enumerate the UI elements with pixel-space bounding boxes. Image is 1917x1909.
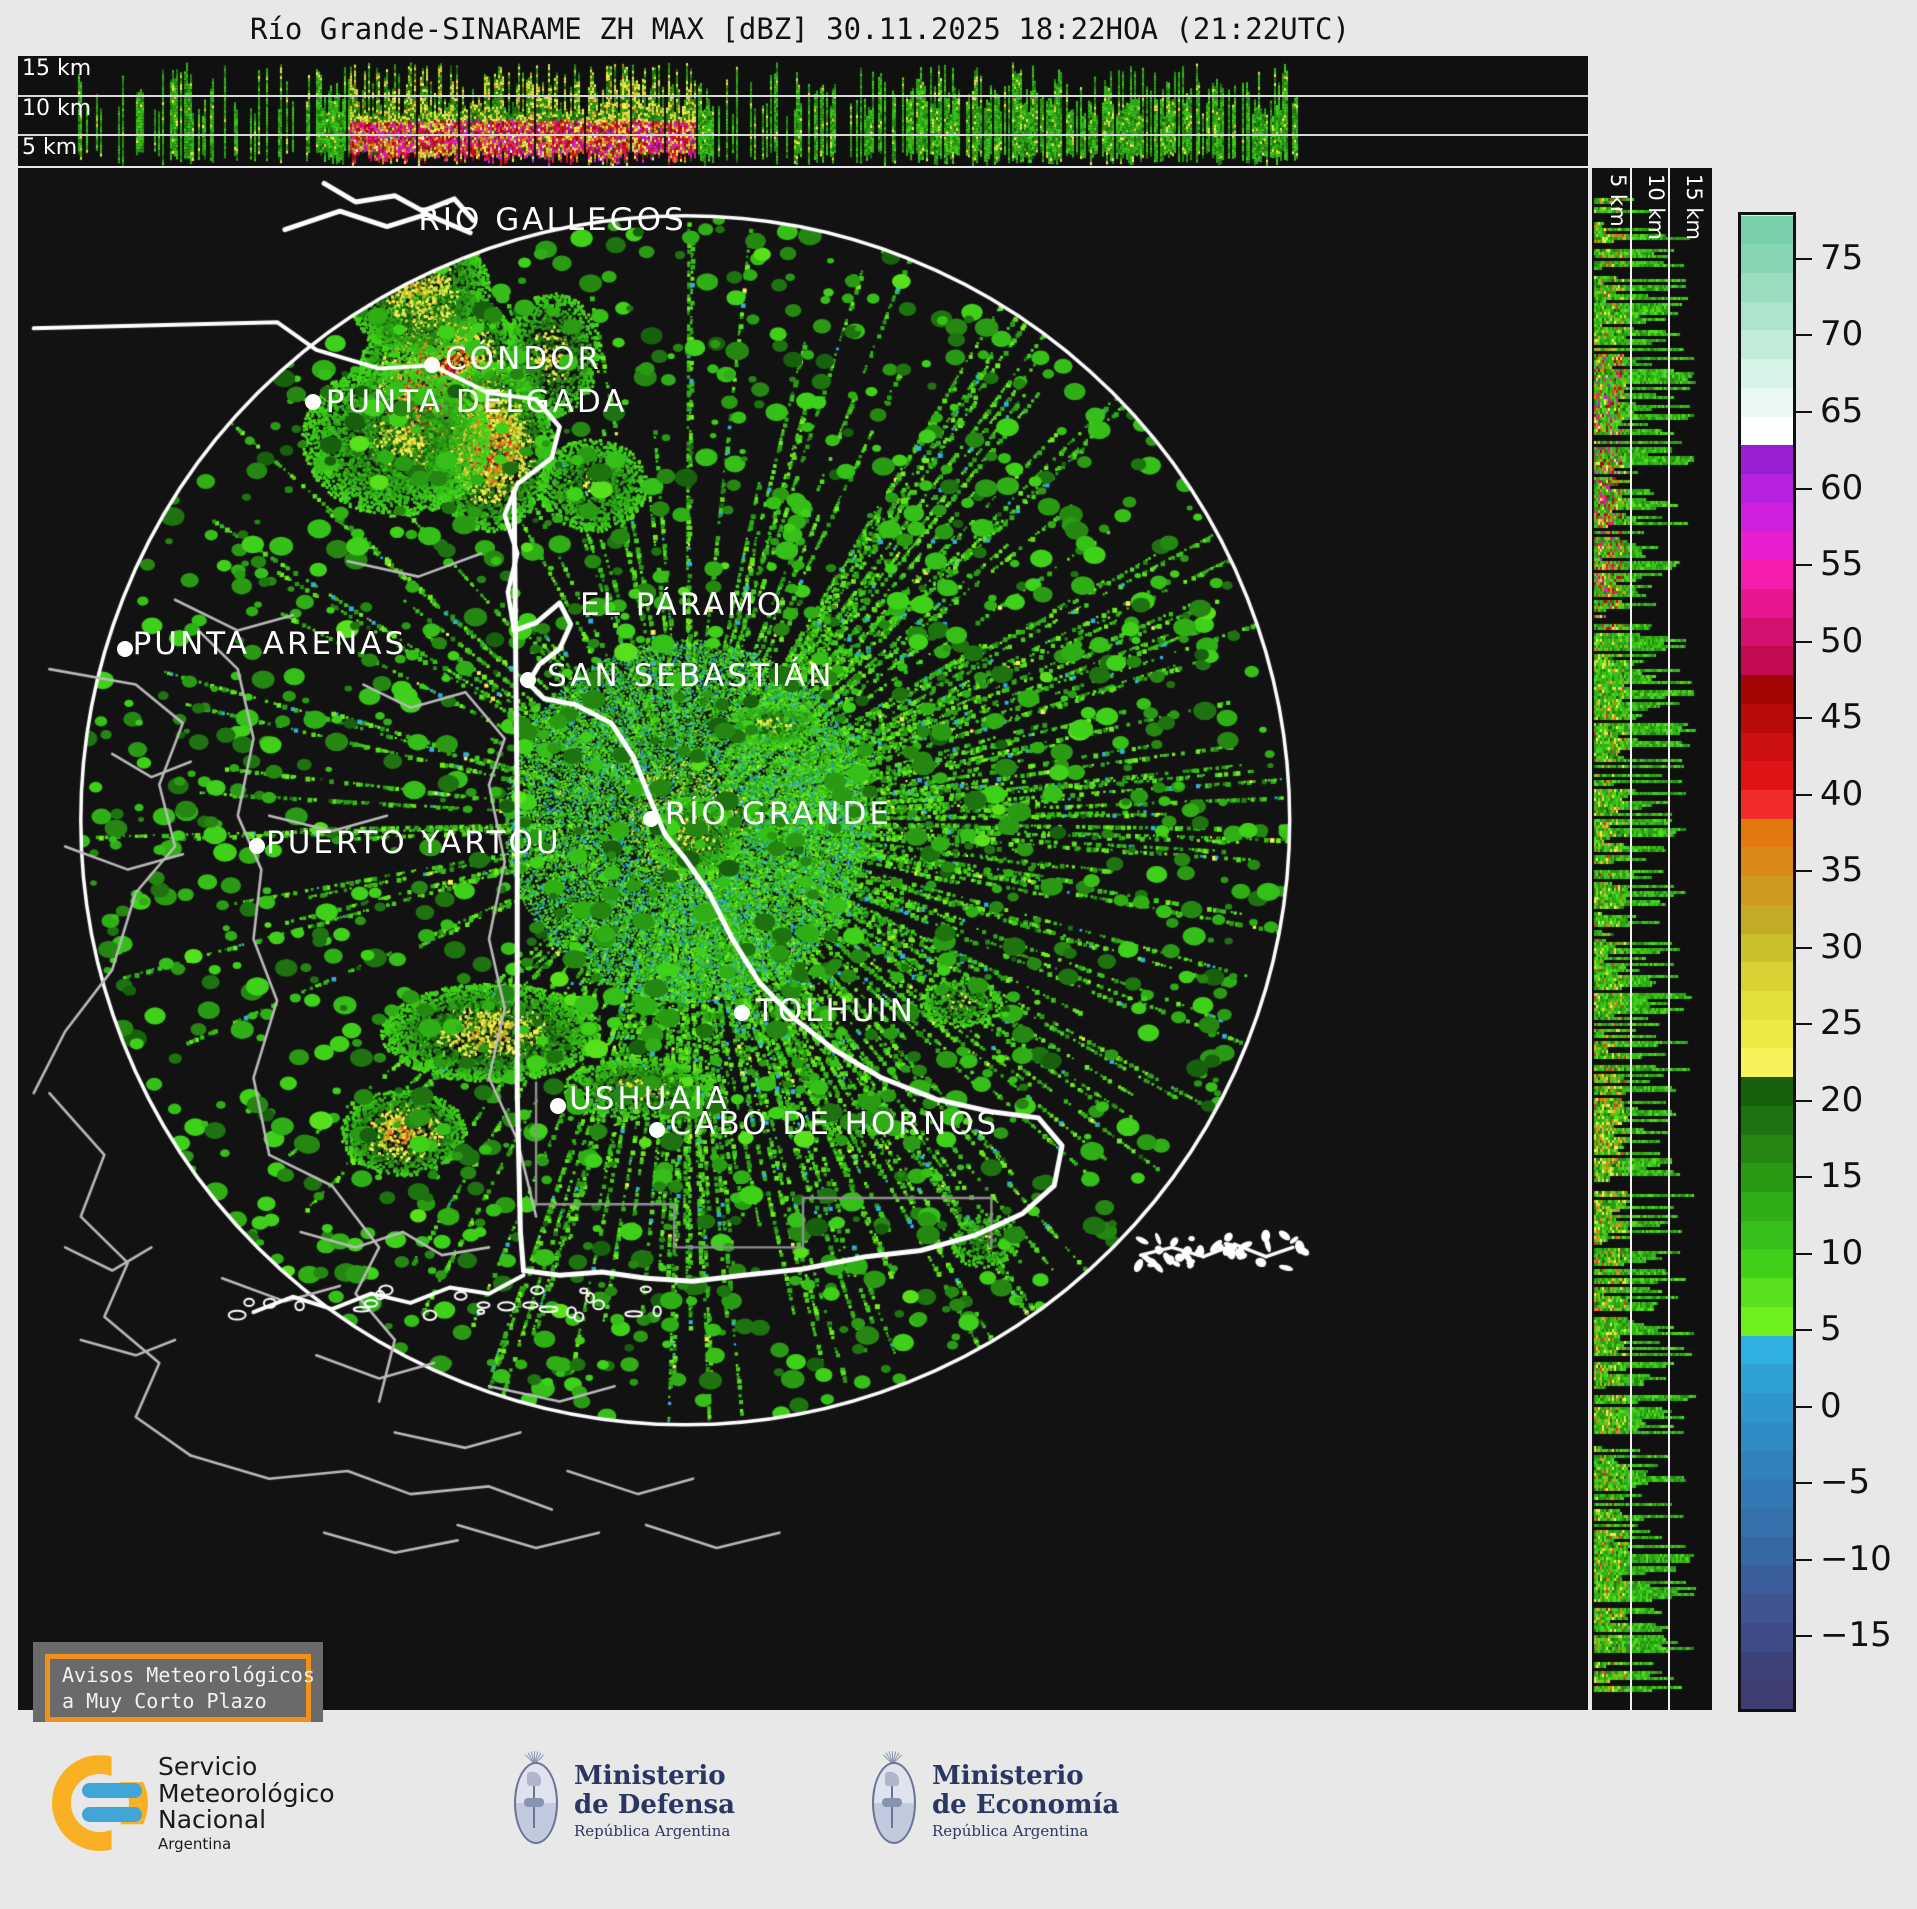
colorbar-band-9	[1741, 1422, 1793, 1451]
logo-ministerio-de-defensa: Ministerio de Defensa República Argentin…	[508, 1746, 735, 1856]
colorbar-tick	[1796, 1253, 1812, 1255]
colorbar-band-39	[1741, 560, 1793, 589]
colorbar-tick-label: 25	[1820, 1003, 1863, 1043]
warning-badge[interactable]: Avisos Meteorológicos a Muy Corto Plazo	[33, 1642, 323, 1734]
colorbar-tick	[1796, 1406, 1812, 1408]
logo-servicio-meteorologico-nacional: Servicio Meteorológico Nacional Argentin…	[52, 1754, 335, 1852]
colorbar-tick-label: 50	[1820, 621, 1863, 661]
colorbar-band-42	[1741, 474, 1793, 503]
colorbar-tick-label: 70	[1820, 314, 1863, 354]
coat-phrygian-cap-2	[885, 1772, 899, 1786]
gridline-10km	[18, 95, 1588, 97]
coat-clasped-hands-2	[882, 1798, 902, 1807]
colorbar-band-24	[1741, 991, 1793, 1020]
map-label-el-p-ramo: EL PÁRAMO	[580, 587, 784, 623]
colorbar-tick-label: 5	[1820, 1309, 1842, 1349]
logo-ministerio-de-economia: Ministerio de Economía República Argenti…	[866, 1746, 1119, 1856]
colorbar-band-11	[1741, 1364, 1793, 1393]
colorbar-band-0	[1741, 1680, 1793, 1709]
colorbar-tick	[1796, 1023, 1812, 1025]
colorbar-band-22	[1741, 1048, 1793, 1077]
smn-logo-text: Servicio Meteorológico Nacional Argentin…	[158, 1754, 335, 1852]
colorbar-band-44	[1741, 417, 1793, 446]
vgridline-5km	[1630, 168, 1632, 1710]
colorbar-band-46	[1741, 359, 1793, 388]
warning-line-2: a Muy Corto Plazo	[62, 1688, 306, 1714]
colorbar-tick-label: 10	[1820, 1233, 1863, 1273]
coat-phrygian-cap	[527, 1772, 541, 1786]
station-marker-ushuaia[interactable]	[550, 1098, 566, 1114]
station-marker-puerto-yartou[interactable]	[249, 838, 265, 854]
colorbar-band-5	[1741, 1537, 1793, 1566]
colorbar-tick	[1796, 641, 1812, 643]
colorbar-band-14	[1741, 1278, 1793, 1307]
colorbar-band-16	[1741, 1221, 1793, 1250]
colorbar-band-32	[1741, 761, 1793, 790]
map-label-tolhuin: TOLHUIN	[756, 993, 916, 1029]
colorbar-tick	[1796, 717, 1812, 719]
colorbar-tick	[1796, 1635, 1812, 1637]
smn-wave-top	[82, 1783, 142, 1798]
colorbar-band-34	[1741, 704, 1793, 733]
colorbar-band-3	[1741, 1594, 1793, 1623]
smn-ring-shape	[52, 1755, 148, 1851]
right-cross-section-panel: 5 km 10 km 15 km	[1592, 168, 1712, 1710]
colorbar-band-6	[1741, 1508, 1793, 1537]
colorbar-tick	[1796, 1482, 1812, 1484]
map-label-r-o-grande: RÍO GRANDE	[665, 796, 892, 832]
economia-line-3: República Argentina	[932, 1823, 1119, 1840]
map-label-cabo-de-hornos: CABO DE HORNOS	[670, 1106, 1000, 1142]
coat-clasped-hands	[524, 1798, 544, 1807]
colorbar-tick-label: 30	[1820, 927, 1863, 967]
colorbar-tick-label: −5	[1820, 1462, 1870, 1502]
colorbar-band-25	[1741, 962, 1793, 991]
colorbar-band-27	[1741, 905, 1793, 934]
map-label-puerto-yartou: PUERTO YARTOU	[266, 825, 562, 861]
colorbar-tick-label: 55	[1820, 544, 1863, 584]
colorbar-tick	[1796, 1176, 1812, 1178]
map-label-r-o-gallegos: RÍO GALLEGOS	[418, 202, 686, 238]
colorbar-band-17	[1741, 1192, 1793, 1221]
colorbar-tick	[1796, 947, 1812, 949]
economia-line-2: de Economía	[932, 1791, 1119, 1820]
colorbar-tick	[1796, 411, 1812, 413]
colorbar-band-15	[1741, 1250, 1793, 1279]
colorbar-tick-label: 45	[1820, 697, 1863, 737]
smn-logo-icon	[52, 1755, 148, 1851]
colorbar-band-23	[1741, 1020, 1793, 1049]
colorbar-ticks: 757065605550454035302520151050−5−10−15	[1796, 212, 1917, 1712]
map-label-san-sebasti-n: SAN SEBASTIÁN	[547, 658, 834, 694]
colorbar-tick	[1796, 488, 1812, 490]
vgridline-10km	[1668, 168, 1670, 1710]
economia-logo-text: Ministerio de Economía República Argenti…	[932, 1762, 1119, 1840]
colorbar-band-31	[1741, 790, 1793, 819]
colorbar-tick-label: 15	[1820, 1156, 1863, 1196]
map-label-punta-delgada: PUNTA DELGADA	[326, 384, 628, 420]
right-cross-section-canvas	[1592, 168, 1712, 1710]
colorbar-tick-label: 35	[1820, 850, 1863, 890]
smn-line-1: Servicio	[158, 1754, 335, 1781]
colorbar: 757065605550454035302520151050−5−10−15	[1738, 212, 1798, 1712]
gridline-5km	[18, 134, 1588, 136]
colorbar-tick	[1796, 564, 1812, 566]
defensa-line-2: de Defensa	[574, 1791, 735, 1820]
radar-reflectivity-canvas	[18, 168, 1588, 1710]
colorbar-band-21	[1741, 1077, 1793, 1106]
colorbar-tick	[1796, 1329, 1812, 1331]
station-marker-r-o-grande[interactable]	[643, 811, 659, 827]
station-marker-tolhuin[interactable]	[734, 1005, 750, 1021]
defensa-line-1: Ministerio	[574, 1762, 735, 1791]
top-height-label-10km: 10 km	[22, 96, 91, 121]
colorbar-band-47	[1741, 331, 1793, 360]
argentina-coat-of-arms-icon-2	[866, 1746, 918, 1856]
warning-badge-frame: Avisos Meteorológicos a Muy Corto Plazo	[45, 1654, 311, 1722]
colorbar-tick-label: 65	[1820, 391, 1863, 431]
economia-line-1: Ministerio	[932, 1762, 1119, 1791]
colorbar-tick-label: −15	[1820, 1615, 1892, 1655]
colorbar-band-38	[1741, 589, 1793, 618]
colorbar-tick-label: 20	[1820, 1080, 1863, 1120]
colorbar-band-48	[1741, 302, 1793, 331]
colorbar-band-40	[1741, 532, 1793, 561]
colorbar-band-50	[1741, 244, 1793, 273]
station-marker-punta-arenas[interactable]	[117, 641, 133, 657]
colorbar-tick	[1796, 1559, 1812, 1561]
colorbar-band-35	[1741, 675, 1793, 704]
colorbar-tick-label: −10	[1820, 1539, 1892, 1579]
right-height-label-5km: 5 km	[1606, 174, 1630, 227]
colorbar-tick	[1796, 258, 1812, 260]
colorbar-band-29	[1741, 847, 1793, 876]
colorbar-tick	[1796, 870, 1812, 872]
colorbar-band-2	[1741, 1623, 1793, 1652]
colorbar-band-18	[1741, 1163, 1793, 1192]
colorbar-band-8	[1741, 1451, 1793, 1480]
colorbar-band-41	[1741, 503, 1793, 532]
warning-line-1: Avisos Meteorológicos	[62, 1662, 306, 1688]
colorbar-tick	[1796, 1100, 1812, 1102]
smn-line-3: Nacional	[158, 1807, 335, 1834]
defensa-logo-text: Ministerio de Defensa República Argentin…	[574, 1762, 735, 1840]
colorbar-tick-label: 40	[1820, 774, 1863, 814]
map-label-c-ndor: CÓNDOR	[445, 341, 602, 377]
smn-wave-bottom	[82, 1807, 142, 1822]
colorbar-tick	[1796, 334, 1812, 336]
radar-ppi-panel[interactable]: RÍO GALLEGOSCÓNDORPUNTA DELGADAEL PÁRAMO…	[18, 168, 1588, 1710]
colorbar-tick-label: 0	[1820, 1386, 1842, 1426]
top-height-label-5km: 5 km	[22, 135, 77, 160]
right-height-label-10km: 10 km	[1644, 174, 1668, 240]
colorbar-band-30	[1741, 819, 1793, 848]
colorbar-band-10	[1741, 1393, 1793, 1422]
map-label-punta-arenas: PUNTA ARENAS	[133, 626, 408, 662]
colorbar-band-19	[1741, 1135, 1793, 1164]
top-cross-section-canvas	[18, 56, 1588, 166]
colorbar-band-51	[1741, 216, 1793, 245]
defensa-line-3: República Argentina	[574, 1823, 735, 1840]
smn-line-2: Meteorológico	[158, 1781, 335, 1808]
colorbar-band-37	[1741, 618, 1793, 647]
colorbar-tick-label: 75	[1820, 238, 1863, 278]
colorbar-tick	[1796, 794, 1812, 796]
colorbar-band-49	[1741, 273, 1793, 302]
colorbar-tick-label: 60	[1820, 468, 1863, 508]
footer: Servicio Meteorológico Nacional Argentin…	[0, 1722, 1917, 1909]
right-height-label-15km: 15 km	[1682, 174, 1706, 240]
top-cross-section-panel: 15 km 10 km 5 km	[18, 56, 1588, 166]
colorbar-band-43	[1741, 445, 1793, 474]
colorbar-band-26	[1741, 934, 1793, 963]
colorbar-band-45	[1741, 388, 1793, 417]
colorbar-gradient	[1738, 212, 1796, 1712]
colorbar-band-33	[1741, 733, 1793, 762]
smn-line-4: Argentina	[158, 1837, 335, 1853]
colorbar-band-12	[1741, 1336, 1793, 1365]
page-title: Río Grande-SINARAME ZH MAX [dBZ] 30.11.2…	[0, 12, 1600, 46]
colorbar-band-1	[1741, 1652, 1793, 1681]
colorbar-band-7	[1741, 1479, 1793, 1508]
top-height-label-15km: 15 km	[22, 56, 91, 81]
colorbar-band-36	[1741, 646, 1793, 675]
argentina-coat-of-arms-icon	[508, 1746, 560, 1856]
colorbar-band-13	[1741, 1307, 1793, 1336]
colorbar-band-20	[1741, 1106, 1793, 1135]
colorbar-band-4	[1741, 1565, 1793, 1594]
colorbar-band-28	[1741, 876, 1793, 905]
